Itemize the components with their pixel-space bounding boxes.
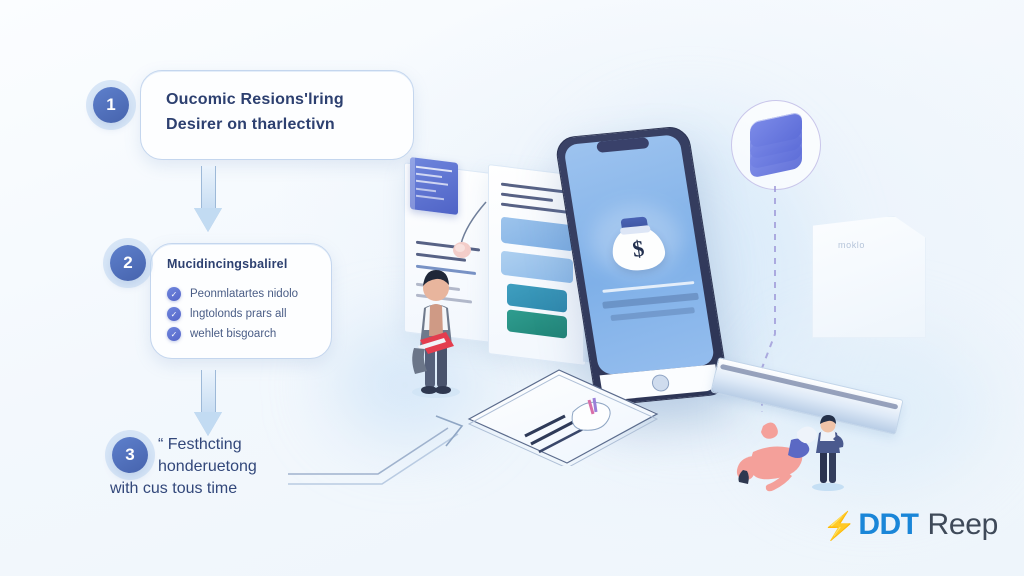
slide-canvas: 1 Oucomic Resions'lring Desirer on tharl… [0, 0, 1024, 576]
step-3-title-line1: “ Festhcting [158, 434, 257, 456]
person-with-laptop [406, 262, 466, 398]
brand-logo[interactable]: ⚡ DDT Reep [823, 508, 998, 542]
step-3-text-block: “ Festhcting honderuetong with cus tous … [158, 434, 257, 500]
faint-panel-label: moklo [838, 240, 865, 250]
step-3-title-line2: honderuetong [158, 456, 257, 478]
logo-word-primary: DDT [858, 508, 918, 542]
screen-caption-line [610, 307, 695, 321]
step-card-1[interactable]: Oucomic Resions'lring Desirer on tharlec… [140, 70, 414, 160]
check-icon: ✓ [167, 307, 181, 321]
step-3-title-line3: with cus tous time [110, 478, 257, 500]
bullet-label: wehlet bisgoarch [190, 328, 276, 340]
step-2-title: Mucidincingsbalirel [167, 257, 288, 271]
list-item[interactable]: ✓ lngtolonds prars all [167, 307, 298, 321]
money-bag-icon: $ [603, 210, 672, 273]
faint-document-panel [812, 216, 926, 338]
check-icon: ✓ [167, 287, 181, 301]
database-stack-node[interactable] [731, 100, 821, 190]
list-item[interactable]: ✓ wehlet bisgoarch [167, 327, 298, 341]
phone-screen: $ [563, 134, 715, 375]
step-number-badge-1: 1 [93, 87, 129, 123]
check-icon: ✓ [167, 327, 181, 341]
screen-caption-line [602, 293, 699, 309]
step-number-badge-2: 2 [110, 245, 146, 281]
screen-caption-line [602, 281, 694, 293]
blue-notebook-icon [410, 157, 458, 215]
flat-document-card-icon [465, 368, 661, 466]
lightning-bolt-icon: ⚡ [823, 513, 857, 540]
bullet-label: Peonmlatartes nidolo [190, 288, 298, 300]
flow-connector-arrow-3 [286, 400, 476, 500]
database-stack-icon [750, 117, 802, 173]
list-item[interactable]: ✓ Peonmlatartes nidolo [167, 287, 298, 301]
step-1-title-line1: Oucomic Resions'lring [166, 91, 344, 109]
person-standing [806, 415, 850, 491]
logo-word-secondary: Reep [927, 508, 998, 542]
step-2-bullet-list: ✓ Peonmlatartes nidolo ✓ lngtolonds prar… [167, 281, 298, 347]
bullet-label: lngtolonds prars all [190, 308, 287, 320]
pin-pointer-icon [452, 200, 492, 262]
step-card-2[interactable]: Mucidincingsbalirel ✓ Peonmlatartes nido… [150, 243, 332, 359]
step-number-badge-3: 3 [112, 437, 148, 473]
step-1-title-line2: Desirer on tharlectivn [166, 116, 335, 134]
